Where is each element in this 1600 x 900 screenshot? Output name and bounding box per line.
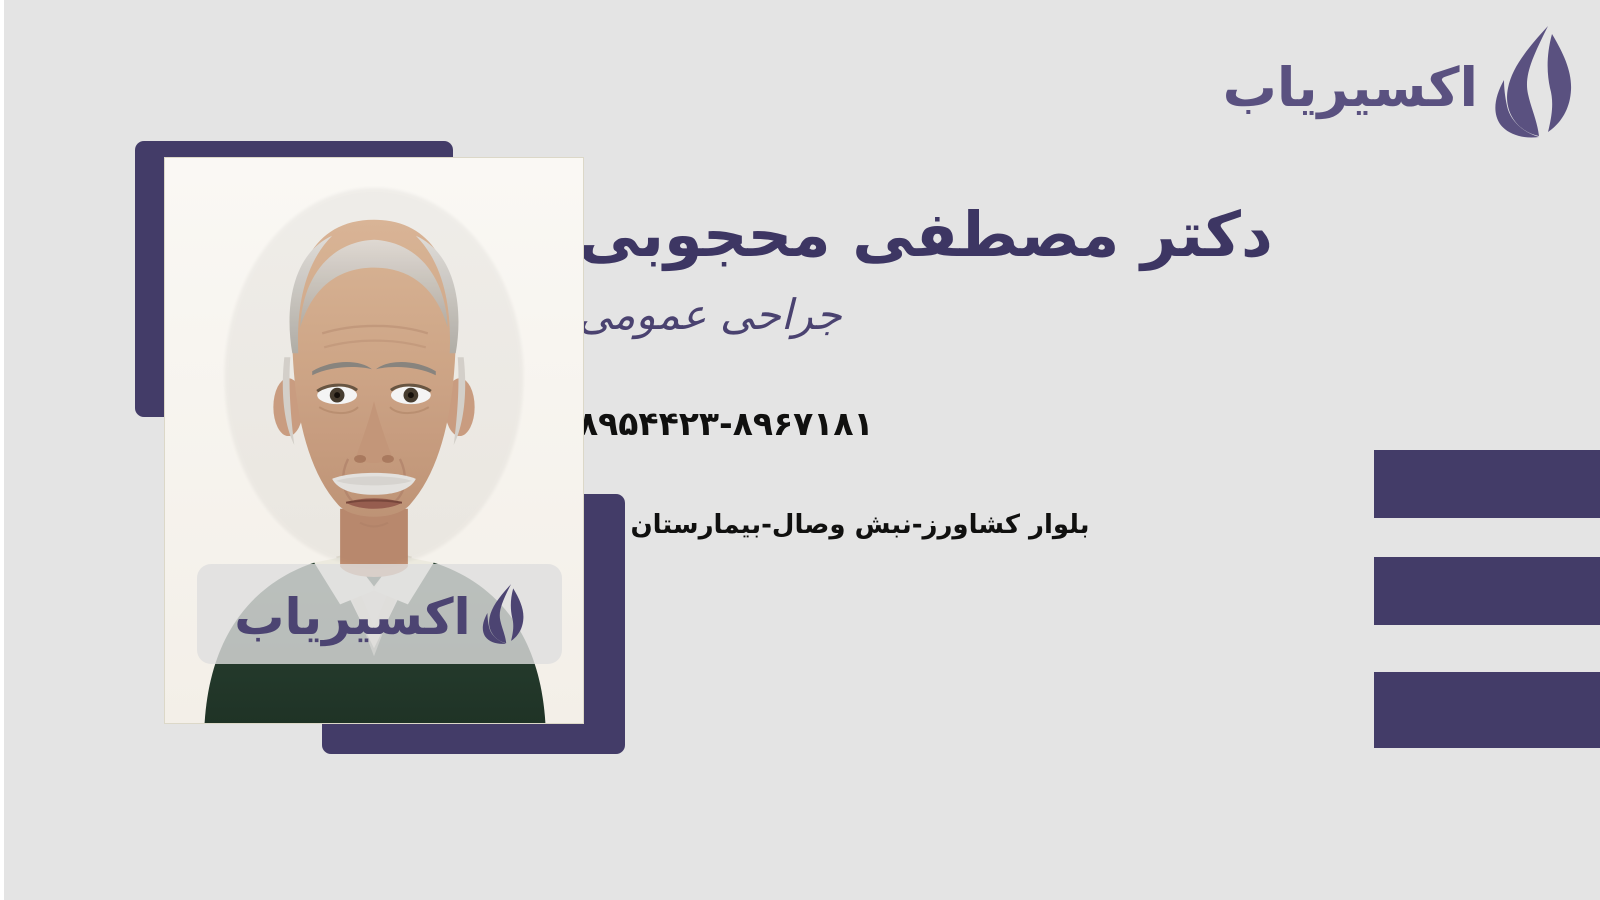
doctor-profile-card: اکسیریاب دکتر مصطفی محجوبی جراحی عمومی ۸…: [4, 0, 1600, 900]
decorative-bar-1: [1374, 450, 1600, 518]
photo-watermark-badge: اکسیریاب: [197, 564, 562, 664]
watermark-text: اکسیریاب: [234, 592, 470, 642]
doctor-name: دکتر مصطفی محجوبی: [578, 196, 1318, 274]
brand-wordmark: اکسیریاب: [1223, 61, 1478, 115]
doctor-specialty: جراحی عمومی: [578, 288, 1318, 343]
flame-droplet-icon: [481, 583, 525, 645]
portrait-composition: اکسیریاب: [135, 141, 625, 756]
decorative-bar-3: [1374, 672, 1600, 748]
doctor-address: بلوار کشاورز-نبش وصال-بیمارستان آریا: [578, 507, 1318, 543]
brand-logo[interactable]: اکسیریاب: [1223, 24, 1574, 140]
doctor-phone[interactable]: ۸۹۵۴۴۲۳-۸۹۶۷۱۸۱: [578, 404, 1318, 443]
decorative-bar-2: [1374, 557, 1600, 625]
doctor-info: دکتر مصطفی محجوبی جراحی عمومی ۸۹۵۴۴۲۳-۸۹…: [578, 196, 1318, 543]
flame-droplet-icon: [1492, 24, 1574, 140]
